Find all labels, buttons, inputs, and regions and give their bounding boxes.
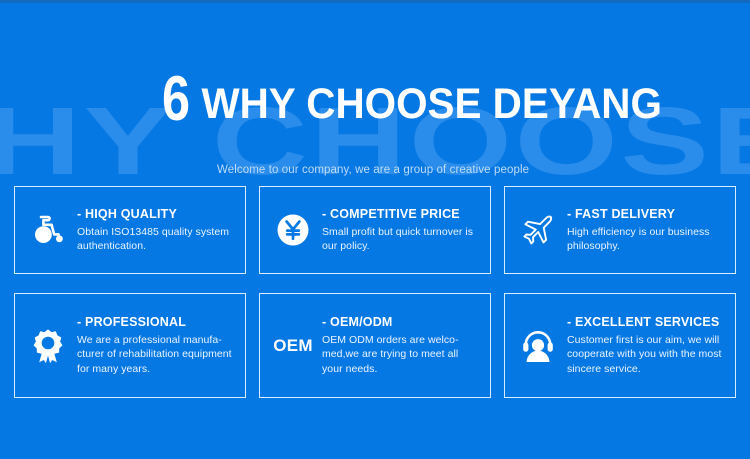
award-badge-icon [25,323,71,369]
card-description: High efficiency is our business philosop… [567,225,725,254]
airplane-icon [515,207,561,253]
card-body: - FAST DELIVERY High efficiency is our b… [561,207,727,254]
card-title: - OEM/ODM [322,315,480,329]
feature-card-services: - EXCELLENT SERVICES Customer first is o… [504,293,736,398]
title-block: 6 WHY CHOOSE DEYANG Welcome to our compa… [0,44,750,164]
card-description: Customer first is our aim, we will coope… [567,333,725,377]
card-body: - EXCELLENT SERVICES Customer first is o… [561,315,727,377]
feature-card-grid: - HIQH QUALITY Obtain ISO13485 quality s… [14,186,736,398]
title-number: 6 [162,72,189,126]
feature-card-oem-odm: OEM - OEM/ODM OEM ODM orders are welco-m… [259,293,491,398]
headset-support-icon [515,323,561,369]
card-description: Small profit but quick turnover is our p… [322,225,480,254]
feature-card-price: - COMPETITIVE PRICE Small profit but qui… [259,186,491,274]
card-description: Obtain ISO13485 quality system authentic… [77,225,235,254]
card-body: - HIQH QUALITY Obtain ISO13485 quality s… [71,207,237,254]
feature-card-professional: - PROFESSIONAL We are a professional man… [14,293,246,398]
card-title: - EXCELLENT SERVICES [567,315,725,329]
page-subtitle: Welcome to our company, we are a group o… [217,163,529,177]
top-accent-strip [0,0,750,3]
card-body: - COMPETITIVE PRICE Small profit but qui… [316,207,482,254]
oem-text-icon: OEM [270,323,316,369]
oem-text-label: OEM [273,336,313,356]
card-description: We are a professional manufa-cturer of r… [77,333,235,377]
card-title: - FAST DELIVERY [567,207,725,221]
title-row: 6 WHY CHOOSE DEYANG [162,72,692,126]
card-body: - OEM/ODM OEM ODM orders are welco-med,w… [316,315,482,377]
wheelchair-icon [25,207,71,253]
card-title: - HIQH QUALITY [77,207,235,221]
card-description: OEM ODM orders are welco-med,we are tryi… [322,333,480,377]
page-title: WHY CHOOSE DEYANG [193,83,662,126]
why-choose-us-banner: WHY CHOOSE US 6 WHY CHOOSE DEYANG Welcom… [0,0,750,459]
card-body: - PROFESSIONAL We are a professional man… [71,315,237,377]
yen-coin-icon [270,207,316,253]
card-title: - PROFESSIONAL [77,315,235,329]
card-title: - COMPETITIVE PRICE [322,207,480,221]
banner-header: WHY CHOOSE US 6 WHY CHOOSE DEYANG Welcom… [0,44,750,164]
feature-card-quality: - HIQH QUALITY Obtain ISO13485 quality s… [14,186,246,274]
feature-card-delivery: - FAST DELIVERY High efficiency is our b… [504,186,736,274]
